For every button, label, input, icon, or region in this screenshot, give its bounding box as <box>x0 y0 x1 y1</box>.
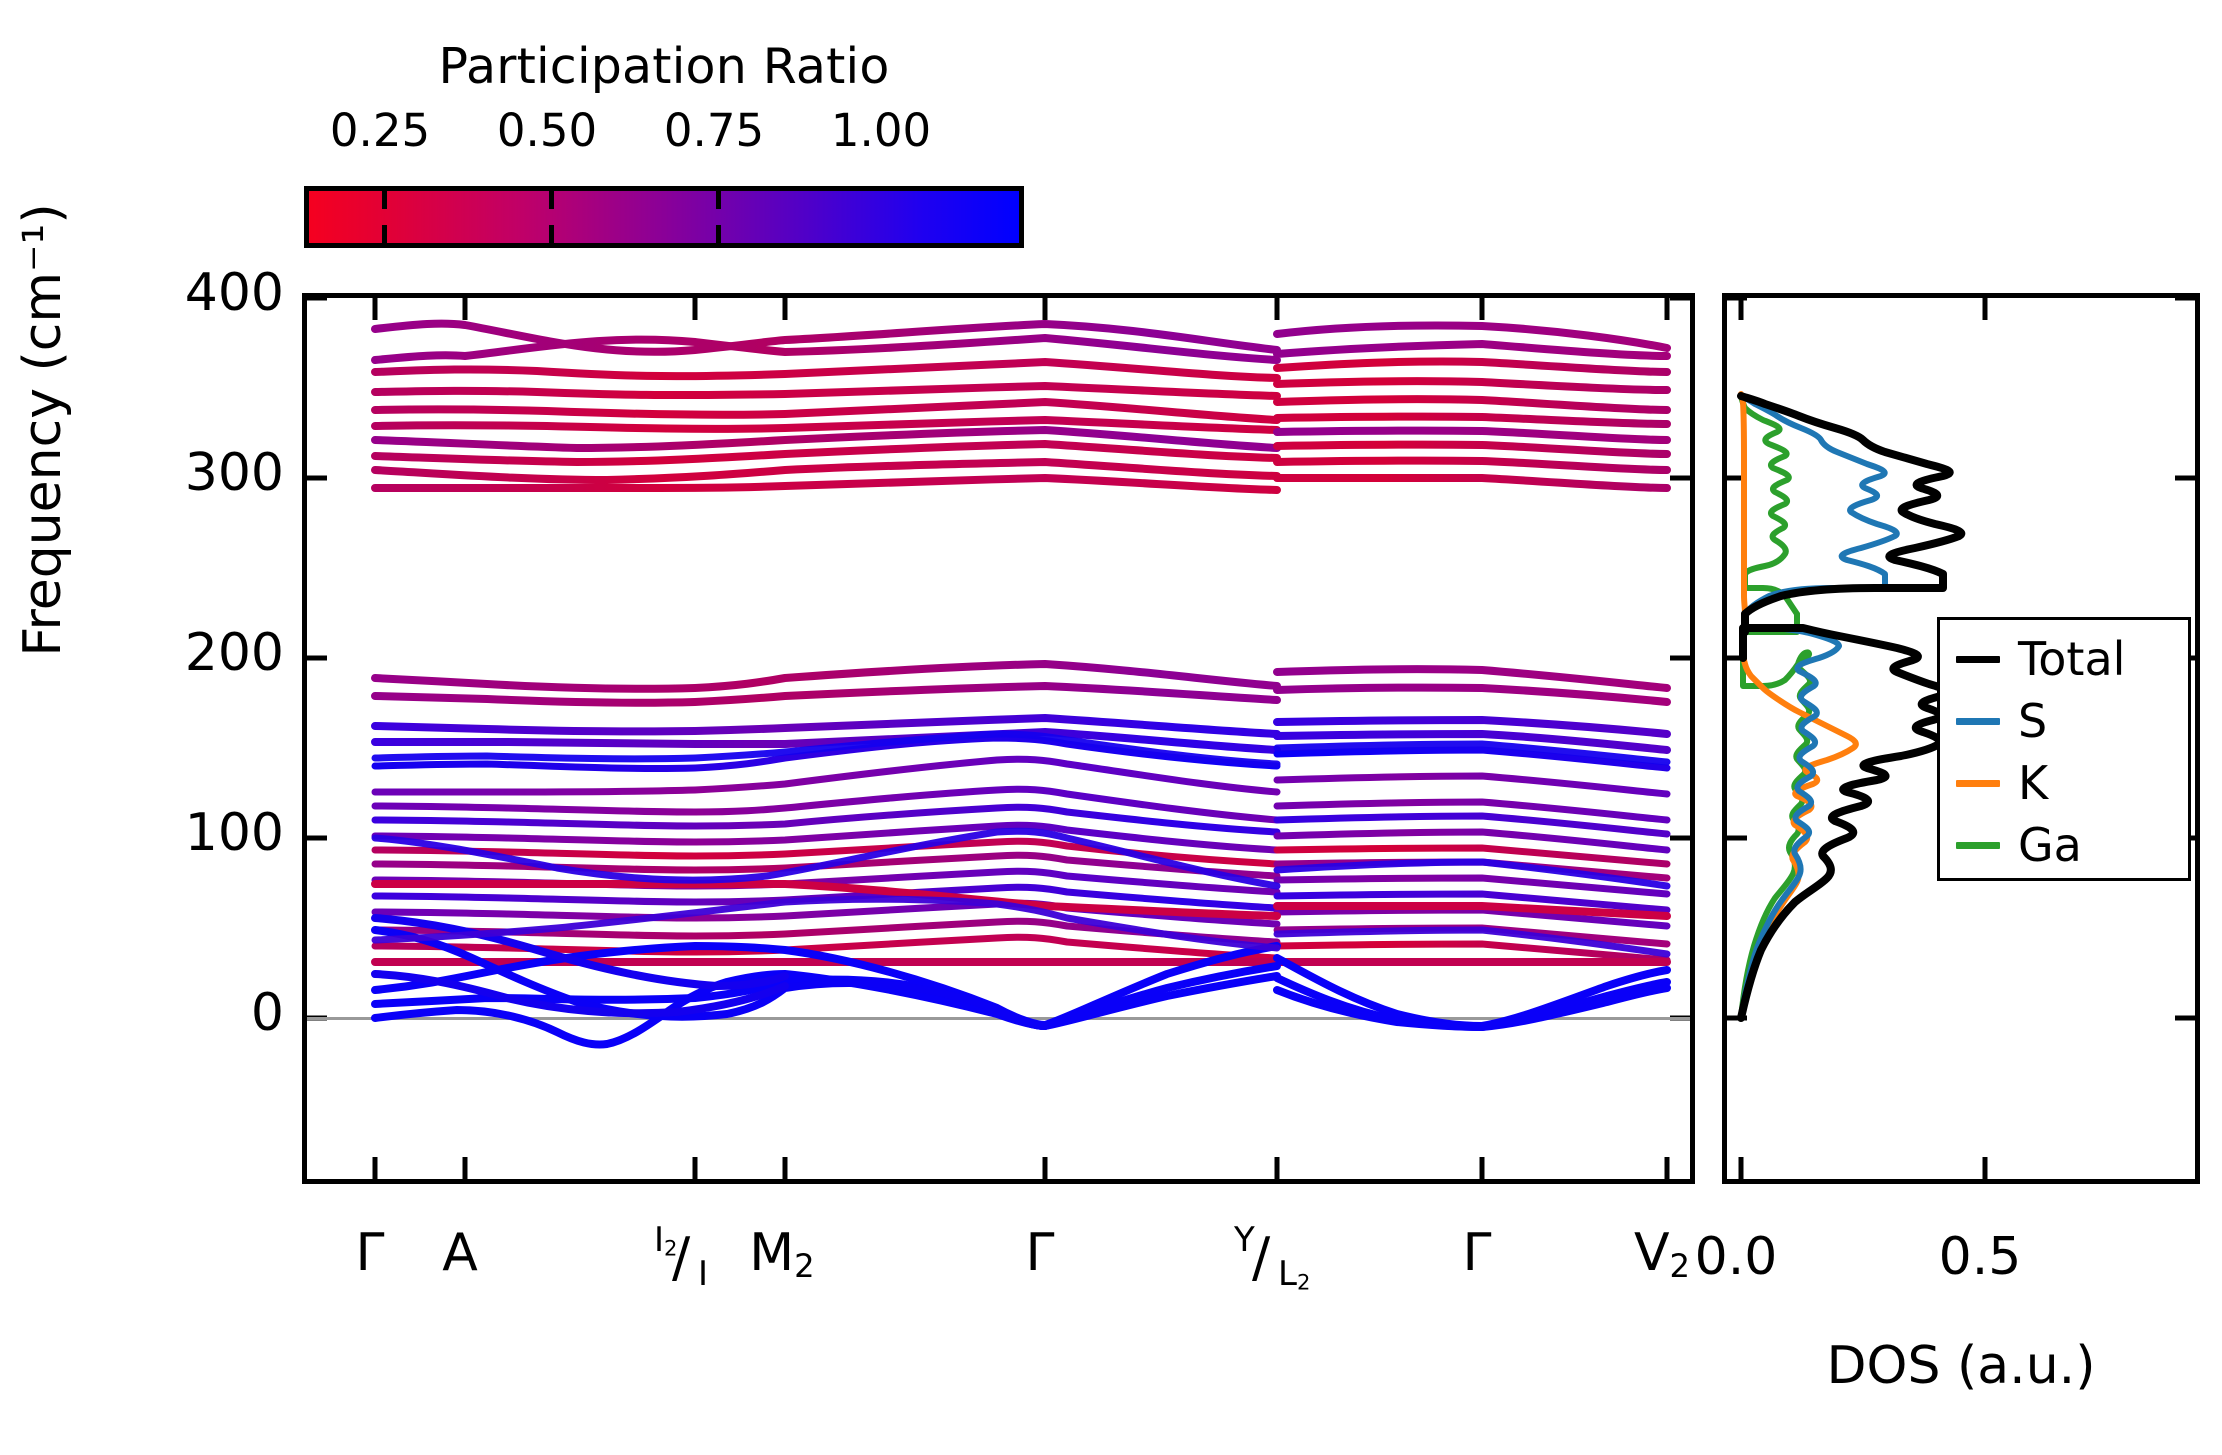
legend-label-ga: Ga <box>2018 822 2082 868</box>
dos-x-label-0.5: 0.5 <box>1939 1227 2022 1287</box>
legend-swatch-total <box>1956 656 2000 663</box>
legend-swatch-ga <box>1956 842 2000 849</box>
legend-swatch-s <box>1956 718 2000 725</box>
dos-axis-title: DOS (a.u.) <box>1722 1336 2200 1396</box>
y-tick-label-0: 0 <box>251 983 284 1043</box>
colorbar-tick-label-3: 0.75 <box>664 104 764 157</box>
colorbar-tick-label-2: 0.50 <box>497 104 597 157</box>
y-tick-label-400: 400 <box>185 263 284 323</box>
x-label-gamma-1: Γ <box>356 1227 385 1279</box>
participation-ratio-colorbar: Participation Ratio 0.25 0.50 0.75 1.00 <box>304 186 1024 248</box>
colorbar-tick-3b <box>716 225 721 243</box>
fraction-slash: / <box>1252 1231 1270 1285</box>
colorbar-tick-2 <box>549 191 554 209</box>
fraction-slash: / <box>672 1231 690 1285</box>
band-curves <box>307 298 1690 1179</box>
colorbar-tick-1 <box>382 191 387 209</box>
legend-item-s: S <box>1940 690 2188 752</box>
x-label-I2-over-I: I2 / I <box>654 1227 730 1301</box>
colorbar-tick-label-1: 0.25 <box>330 104 430 157</box>
colorbar-tick-1b <box>382 225 387 243</box>
fraction-denominator: L2 <box>1278 1257 1310 1293</box>
legend-item-k: K <box>1940 752 2188 814</box>
x-label-V2: V2 <box>1634 1227 1690 1282</box>
colorbar-tick-label-4: 1.00 <box>831 104 931 157</box>
phonon-figure: Participation Ratio 0.25 0.50 0.75 1.00 … <box>0 0 2222 1455</box>
fraction-Y-L2: Y / L2 <box>1234 1227 1310 1301</box>
fraction-I2-I: I2 / I <box>654 1227 730 1301</box>
dos-legend: Total S K Ga <box>1937 617 2191 881</box>
x-label-A: A <box>442 1227 478 1279</box>
x-label-gamma-3: Γ <box>1463 1227 1492 1279</box>
x-label-gamma-2: Γ <box>1026 1227 1055 1279</box>
band-structure-plot <box>302 293 1695 1184</box>
y-axis-label: Frequency (cm⁻¹) <box>13 195 73 665</box>
y-tick-label-200: 200 <box>185 623 284 683</box>
colorbar-tick-2b <box>549 225 554 243</box>
fraction-denominator: I <box>698 1257 708 1291</box>
y-tick-label-100: 100 <box>185 803 284 863</box>
legend-swatch-k <box>1956 780 2000 787</box>
colorbar-tick-3 <box>716 191 721 209</box>
legend-label-s: S <box>2018 698 2047 744</box>
legend-item-total: Total <box>1940 628 2188 690</box>
colorbar-gradient <box>304 186 1024 248</box>
dos-x-label-0: 0.0 <box>1695 1227 1778 1287</box>
legend-item-ga: Ga <box>1940 814 2188 876</box>
colorbar-title: Participation Ratio <box>304 38 1024 95</box>
x-label-Y-over-L2: Y / L2 <box>1234 1227 1310 1301</box>
x-label-M2: M2 <box>749 1227 814 1282</box>
y-tick-label-300: 300 <box>185 443 284 503</box>
legend-label-total: Total <box>2018 636 2125 682</box>
legend-label-k: K <box>2018 760 2048 806</box>
